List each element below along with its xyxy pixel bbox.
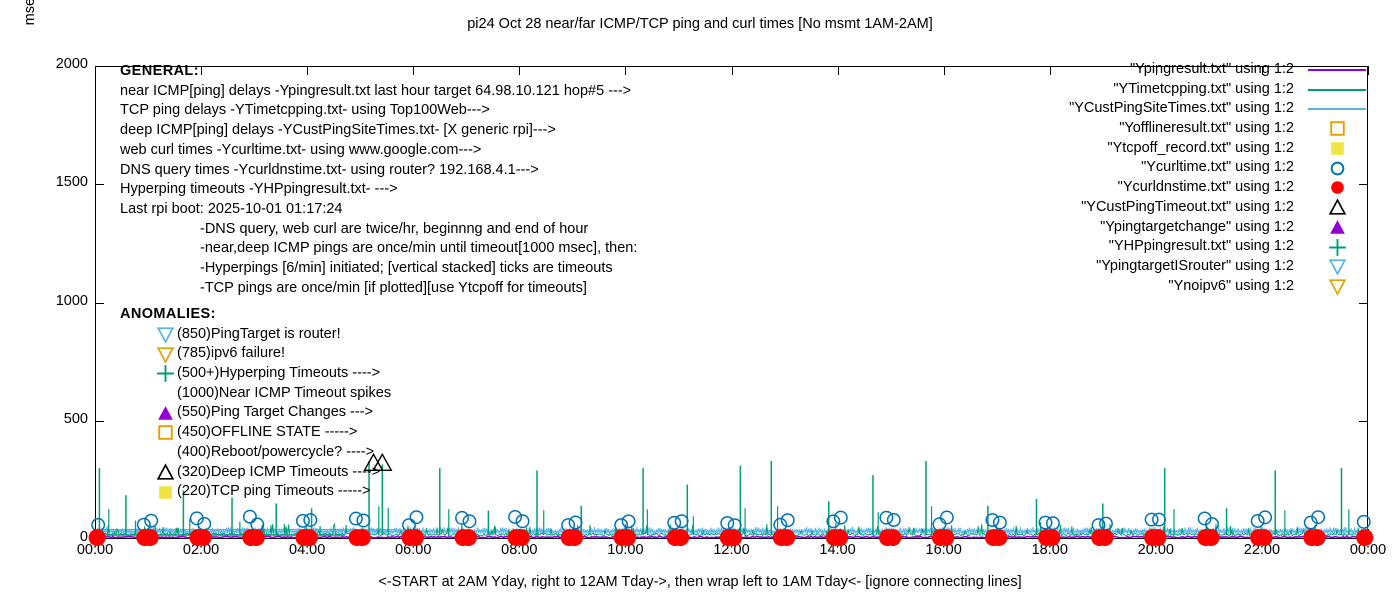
legend-label: "YCustPingSiteTimes.txt" using 1:2 xyxy=(1069,99,1306,119)
y-tick-label: 2000 xyxy=(0,56,88,72)
curl-time-point xyxy=(357,514,369,526)
legend-label: "Ypingresult.txt" using 1:2 xyxy=(1130,60,1306,80)
general-note: -Hyperpings [6/min] initiated; [vertical… xyxy=(120,259,637,279)
anomaly-label: (1000)Near ICMP Timeout spikes xyxy=(177,384,391,404)
legend-line xyxy=(1308,69,1366,71)
no-marker-icon xyxy=(154,443,176,462)
legend-entry: "Ypingtargetchange" using 1:2 xyxy=(1000,218,1368,238)
curl-time-point xyxy=(244,510,256,522)
legend-label: "Ycurltime.txt" using 1:2 xyxy=(1141,158,1306,178)
legend-line-swatch xyxy=(1306,80,1368,100)
down-triangle-orange-icon xyxy=(154,345,176,364)
dns-time-point xyxy=(1203,529,1220,546)
y-tick-label: 1000 xyxy=(0,293,88,309)
dns-time-point xyxy=(990,529,1007,546)
filled-square-icon xyxy=(154,483,176,502)
anomaly-label: (785)ipv6 failure! xyxy=(177,344,285,364)
dns-time-point xyxy=(195,529,212,546)
general-line: Hyperping timeouts -YHPpingresult.txt- -… xyxy=(120,180,637,200)
curl-time-point xyxy=(888,514,900,526)
open-square-icon xyxy=(1306,119,1368,139)
down-triangle-orange-icon xyxy=(1306,277,1368,297)
anomaly-label: (850)PingTarget is router! xyxy=(177,325,341,345)
general-header: GENERAL: xyxy=(120,62,637,82)
down-triangle-open-icon xyxy=(1306,257,1368,277)
general-note: -near,deep ICMP pings are once/min until… xyxy=(120,239,637,259)
dns-time-point xyxy=(566,529,583,546)
chart-legend: "Ypingresult.txt" using 1:2"YTimetcpping… xyxy=(1000,60,1368,296)
legend-line xyxy=(1308,89,1366,91)
legend-entry: "Ynoipv6" using 1:2 xyxy=(1000,277,1368,297)
y-axis-label: msec xyxy=(22,0,38,38)
legend-label: "YpingtargetISrouter" using 1:2 xyxy=(1096,257,1306,277)
curl-time-point xyxy=(622,515,634,527)
dns-time-point xyxy=(89,529,106,546)
curl-time-point xyxy=(463,515,475,527)
curl-time-point xyxy=(1358,516,1370,528)
legend-label: "Ycurldnstime.txt" using 1:2 xyxy=(1118,178,1306,198)
curl-time-point xyxy=(994,516,1006,528)
curl-time-point xyxy=(1047,517,1059,529)
filled-triangle-icon xyxy=(154,404,176,423)
curl-time-point xyxy=(569,516,581,528)
dns-time-point xyxy=(354,529,371,546)
legend-entry: "YCustPingTimeout.txt" using 1:2 xyxy=(1000,198,1368,218)
curl-time-point xyxy=(516,515,528,527)
legend-entry: "Ycurltime.txt" using 1:2 xyxy=(1000,158,1368,178)
filled-circle-icon xyxy=(1306,178,1368,198)
general-line: near ICMP[ping] delays -Ypingresult.txt … xyxy=(120,82,637,102)
general-annotation-block: GENERAL: near ICMP[ping] delays -Ypingre… xyxy=(120,62,637,298)
anomaly-row: (220)TCP ping Timeouts -----> xyxy=(120,482,391,502)
x-tick-mark xyxy=(1368,66,1369,75)
dns-time-point xyxy=(1043,529,1060,546)
down-triangle-open-icon xyxy=(154,325,176,344)
curl-time-point xyxy=(304,514,316,526)
curl-time-point xyxy=(1259,511,1271,523)
plus-icon xyxy=(154,364,176,383)
anomaly-row: (500+)Hyperping Timeouts ----> xyxy=(120,364,391,384)
anomaly-row: (850)PingTarget is router! xyxy=(120,325,391,345)
legend-entry: "YTimetcpping.txt" using 1:2 xyxy=(1000,80,1368,100)
dns-time-point xyxy=(619,529,636,546)
curl-time-point xyxy=(1100,517,1112,529)
curl-time-point xyxy=(1251,515,1263,527)
dns-time-point xyxy=(831,529,848,546)
anomaly-row: (450)OFFLINE STATE -----> xyxy=(120,423,391,443)
x-axis-caption: <-START at 2AM Yday, right to 12AM Tday-… xyxy=(0,574,1400,590)
y-tick-label: 1500 xyxy=(0,174,88,190)
legend-entry: "Ycurldnstime.txt" using 1:2 xyxy=(1000,178,1368,198)
y-tick-label: 500 xyxy=(0,411,88,427)
anomaly-row: (400)Reboot/powercycle? ----> xyxy=(120,443,391,463)
filled-triangle-icon xyxy=(1306,218,1368,238)
legend-label: "YTimetcpping.txt" using 1:2 xyxy=(1113,80,1306,100)
anomaly-label: (550)Ping Target Changes ---> xyxy=(177,403,373,423)
dns-time-point xyxy=(407,529,424,546)
curl-time-point xyxy=(509,511,521,523)
anomaly-label: (320)Deep ICMP Timeouts ----> xyxy=(177,463,380,483)
anomalies-annotation-block: ANOMALIES: (850)PingTarget is router!(78… xyxy=(120,305,391,502)
anomaly-row: (320)Deep ICMP Timeouts ----> xyxy=(120,463,391,483)
dns-time-point xyxy=(672,529,689,546)
legend-label: "Ytcpoff_record.txt" using 1:2 xyxy=(1107,139,1306,159)
dns-time-point xyxy=(142,529,159,546)
legend-line-swatch xyxy=(1306,99,1368,119)
general-line: DNS query times -Ycurldnstime.txt- using… xyxy=(120,161,637,181)
dns-time-point xyxy=(725,529,742,546)
filled-square-icon xyxy=(1306,139,1368,159)
curl-time-point xyxy=(721,517,733,529)
legend-entry: "YHPpingresult.txt" using 1:2 xyxy=(1000,237,1368,257)
legend-entry: "YpingtargetISrouter" using 1:2 xyxy=(1000,257,1368,277)
general-note: -TCP pings are once/min [if plotted][use… xyxy=(120,279,637,299)
open-circle-icon xyxy=(1306,158,1368,178)
dns-time-point xyxy=(937,529,954,546)
anomaly-label: (500+)Hyperping Timeouts ----> xyxy=(177,364,380,384)
dns-time-point xyxy=(1096,529,1113,546)
curl-time-point xyxy=(145,515,157,527)
dns-time-point xyxy=(248,529,265,546)
legend-entry: "Ypingresult.txt" using 1:2 xyxy=(1000,60,1368,80)
legend-label: "Yofflineresult.txt" using 1:2 xyxy=(1119,119,1306,139)
dns-time-point xyxy=(301,529,318,546)
no-marker-icon xyxy=(154,384,176,403)
legend-entry: "YCustPingSiteTimes.txt" using 1:2 xyxy=(1000,99,1368,119)
general-line: deep ICMP[ping] delays -YCustPingSiteTim… xyxy=(120,121,637,141)
curl-time-point xyxy=(941,511,953,523)
curl-time-point xyxy=(880,511,892,523)
dns-time-point xyxy=(1256,529,1273,546)
open-triangle-icon xyxy=(154,463,176,482)
anomaly-row: (1000)Near ICMP Timeout spikes xyxy=(120,384,391,404)
plus-icon xyxy=(1306,237,1368,257)
general-line: web curl times -Ycurltime.txt- using www… xyxy=(120,141,637,161)
legend-label: "Ynoipv6" using 1:2 xyxy=(1168,277,1306,297)
anomaly-label: (220)TCP ping Timeouts -----> xyxy=(177,482,371,502)
dns-time-point xyxy=(460,529,477,546)
general-line: TCP ping delays -YTimetcpping.txt- using… xyxy=(120,101,637,121)
curl-time-point xyxy=(456,512,468,524)
legend-entry: "Yofflineresult.txt" using 1:2 xyxy=(1000,119,1368,139)
legend-label: "YHPpingresult.txt" using 1:2 xyxy=(1109,237,1306,257)
dns-time-point xyxy=(884,529,901,546)
anomaly-row: (785)ipv6 failure! xyxy=(120,344,391,364)
legend-entry: "Ytcpoff_record.txt" using 1:2 xyxy=(1000,139,1368,159)
curl-time-point xyxy=(1145,513,1157,525)
general-note: -DNS query, web curl are twice/hr, begin… xyxy=(120,220,637,240)
curl-time-point xyxy=(835,511,847,523)
legend-label: "Ypingtargetchange" using 1:2 xyxy=(1100,218,1306,238)
dns-time-point xyxy=(1356,529,1373,546)
legend-label: "YCustPingTimeout.txt" using 1:2 xyxy=(1081,198,1306,218)
open-square-icon xyxy=(154,423,176,442)
anomalies-header: ANOMALIES: xyxy=(120,305,391,325)
legend-line xyxy=(1308,108,1366,110)
legend-line-swatch xyxy=(1306,60,1368,80)
general-line: Last rpi boot: 2025-10-01 01:17:24 xyxy=(120,200,637,220)
anomaly-label: (400)Reboot/powercycle? ----> xyxy=(177,443,374,463)
curl-time-point xyxy=(675,515,687,527)
dns-time-point xyxy=(1149,529,1166,546)
curl-time-point xyxy=(251,518,263,530)
open-triangle-icon xyxy=(1306,198,1368,218)
dns-time-point xyxy=(1309,529,1326,546)
dns-time-point xyxy=(513,529,530,546)
anomaly-label: (450)OFFLINE STATE -----> xyxy=(177,423,357,443)
curl-time-point xyxy=(1153,513,1165,525)
curl-time-point xyxy=(410,511,422,523)
dns-time-point xyxy=(778,529,795,546)
chart-title: pi24 Oct 28 near/far ICMP/TCP ping and c… xyxy=(0,16,1400,32)
anomaly-row: (550)Ping Target Changes ---> xyxy=(120,403,391,423)
